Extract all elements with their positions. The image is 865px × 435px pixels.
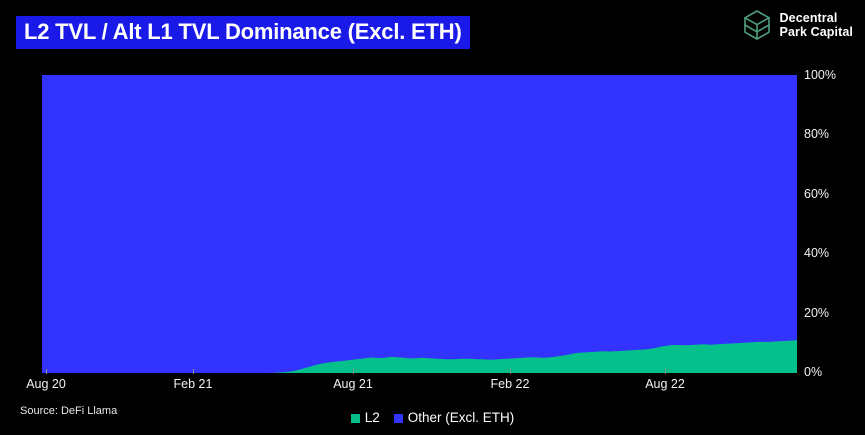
chart: 100% 80% 60% 40% 20% 0% Aug 20 Feb 21 Au… [0,0,865,435]
y-axis-tick-100: 100% [804,69,836,81]
legend-label-other: Other (Excl. ETH) [408,410,515,426]
legend-swatch-other [394,414,403,423]
x-axis-tick-feb22: Feb 22 [491,377,530,391]
legend-label-l2: L2 [365,410,380,426]
area-series-other [42,75,797,373]
x-axis-tick-feb21: Feb 21 [174,377,213,391]
x-axis-tickmark-feb22 [510,369,511,374]
x-axis-tickmark-aug21 [353,369,354,374]
legend-item-other[interactable]: Other (Excl. ETH) [394,410,515,426]
x-axis-tick-aug21: Aug 21 [333,377,373,391]
y-axis-tick-80: 80% [804,128,829,140]
x-axis-tick-aug22: Aug 22 [645,377,685,391]
stacked-area-paths [42,75,797,373]
y-axis-tick-0: 0% [804,366,822,378]
legend-item-l2[interactable]: L2 [351,410,380,426]
y-axis-tick-60: 60% [804,188,829,200]
x-axis-tickmark-aug22 [665,369,666,374]
x-axis-line [42,373,797,375]
chart-legend: L2 Other (Excl. ETH) [0,410,865,426]
legend-swatch-l2 [351,414,360,423]
x-axis-tickmark-aug20 [46,369,47,374]
plot-area [42,75,797,373]
x-axis-tickmark-feb21 [193,369,194,374]
y-axis-tick-20: 20% [804,307,829,319]
x-axis-tick-aug20: Aug 20 [26,377,66,391]
y-axis-tick-40: 40% [804,247,829,259]
